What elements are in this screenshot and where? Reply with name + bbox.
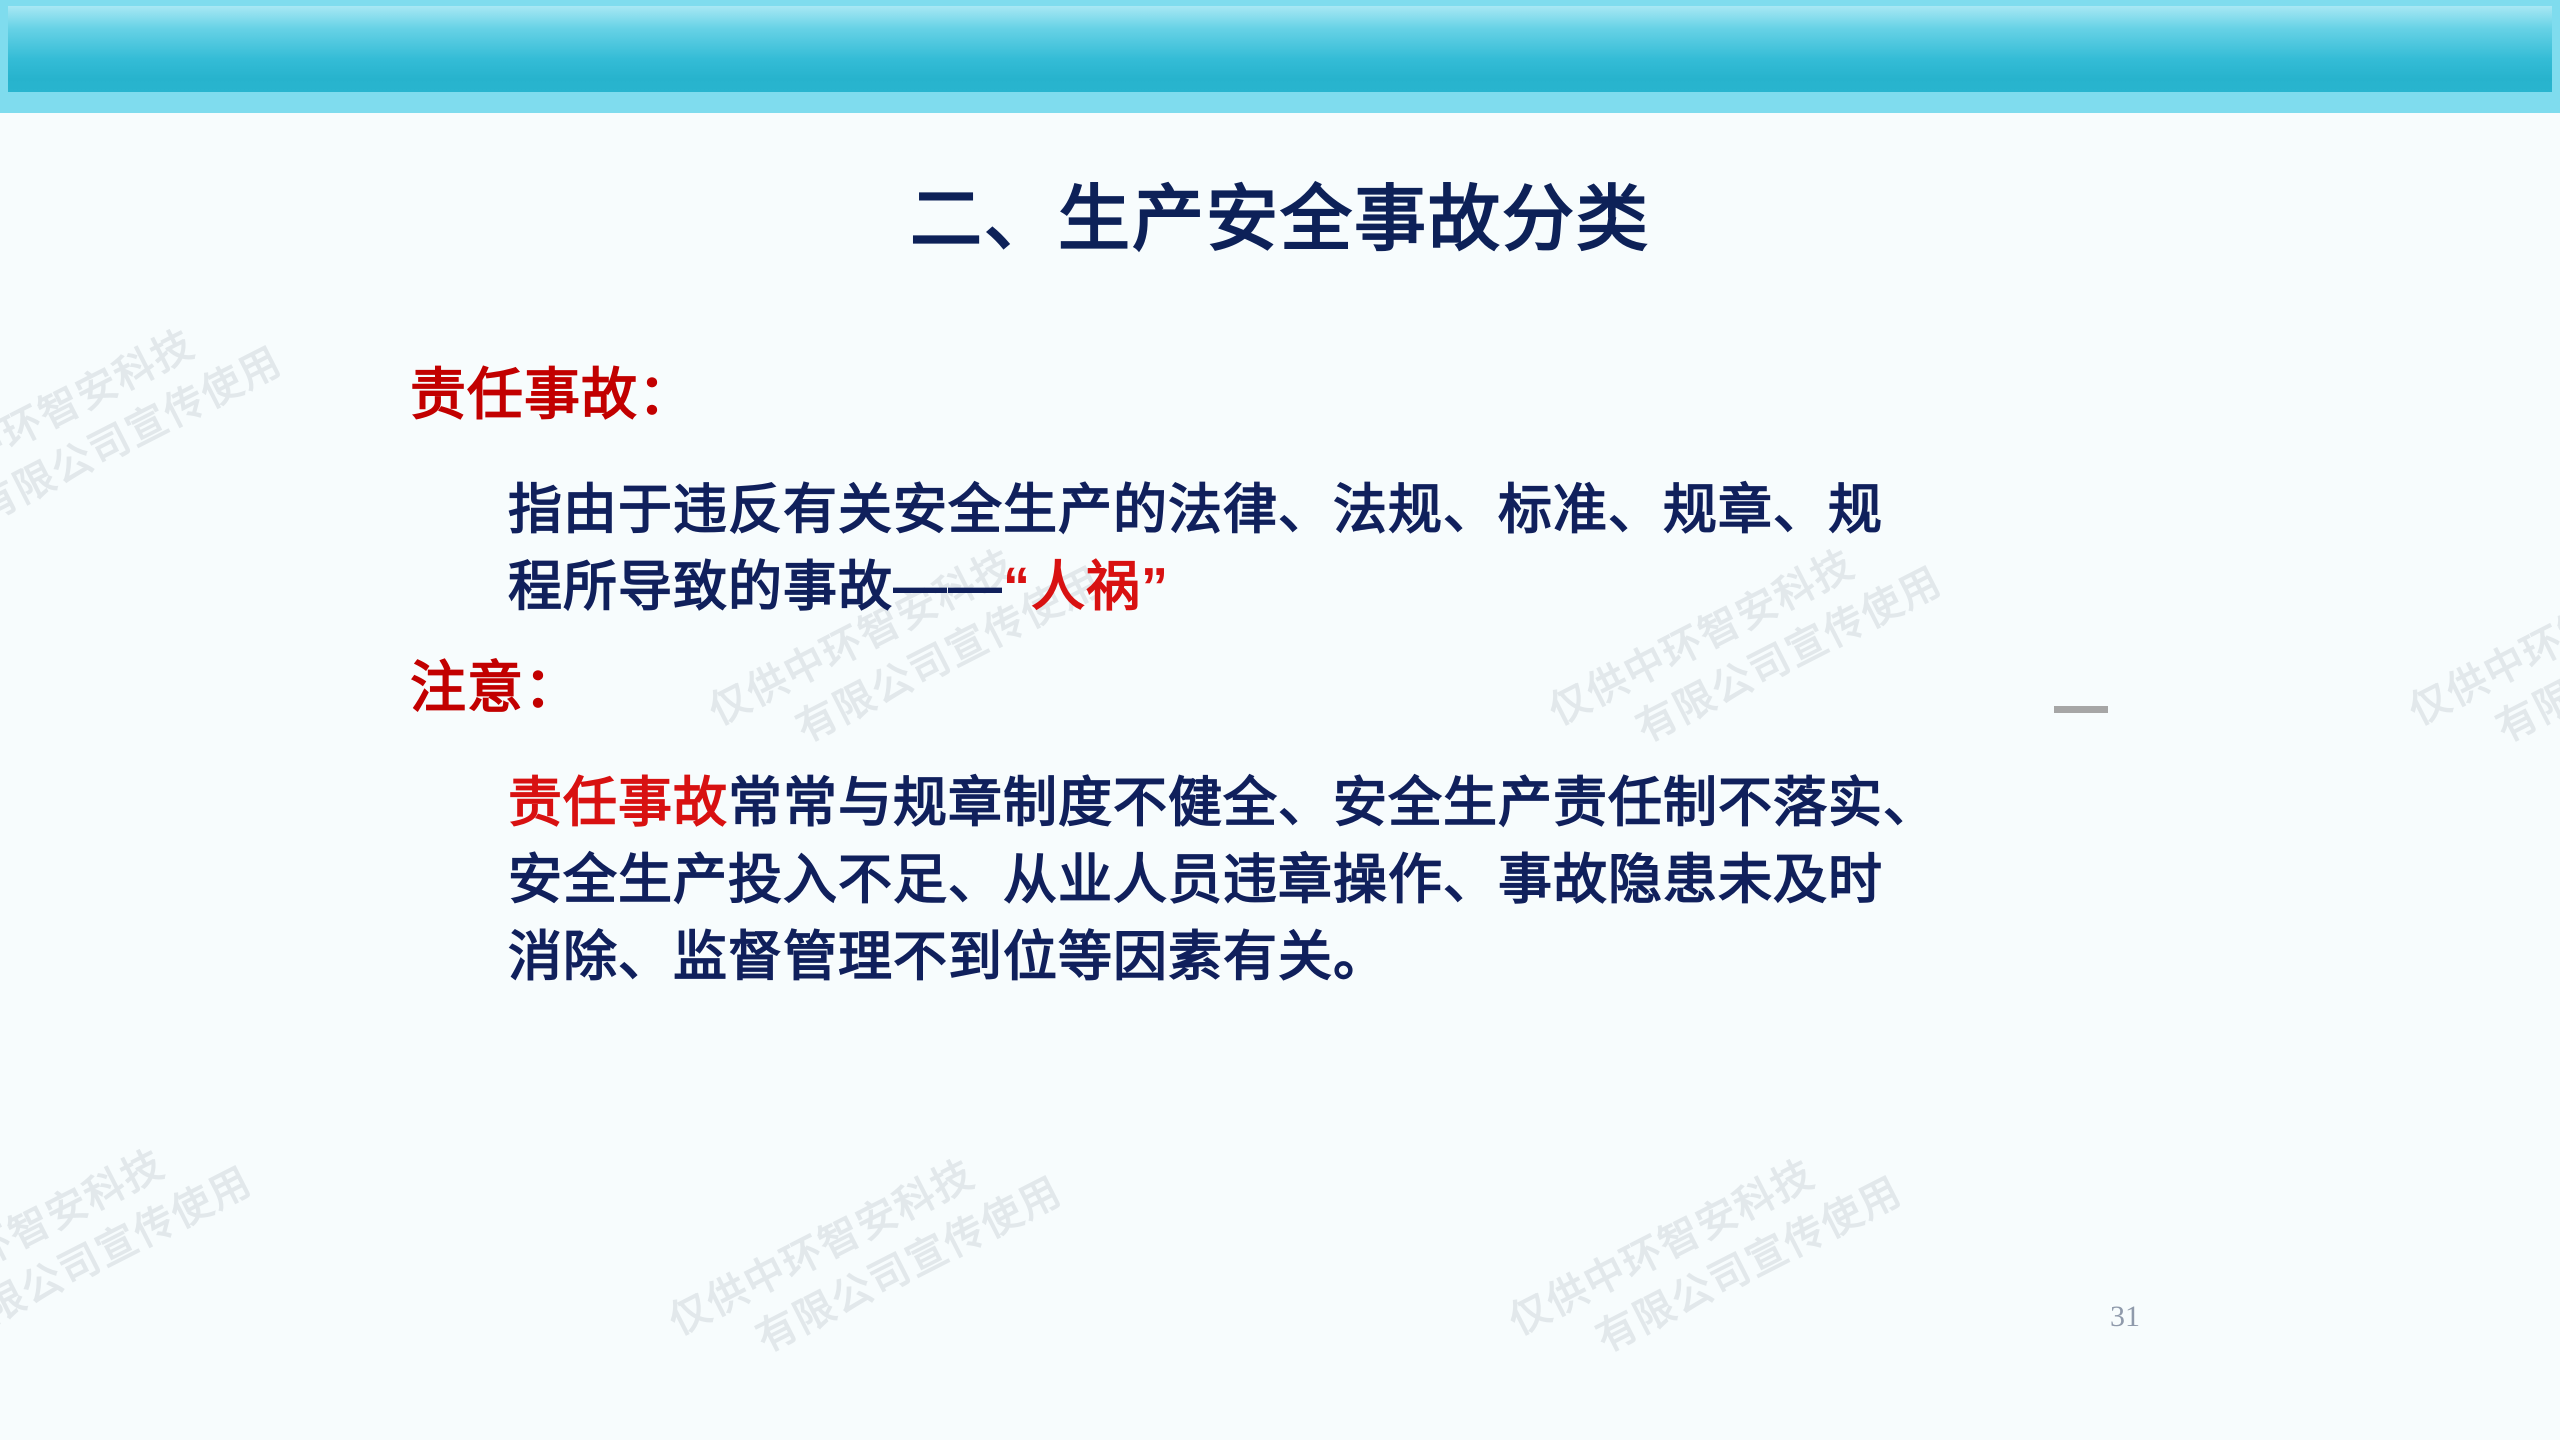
watermark-tile: 仅供中环智安科技 有限公司宣传使用	[0, 286, 292, 569]
slide-canvas: 仅供中环智安科技 有限公司宣传使用 仅供中环智安科技 有限公司宣传使用 仅供中环…	[0, 0, 2560, 1440]
text-run-highlight: 责任事故	[508, 773, 728, 833]
paragraph-definition: 指由于违反有关安全生产的法律、法规、标准、规章、规 程所导致的事故——“人祸”	[508, 472, 2190, 625]
watermark-tile: 仅供中环智安科技 有限公司宣传使用	[0, 1106, 262, 1389]
paragraph-line: 程所导致的事故——“人祸”	[508, 549, 2190, 626]
page-number: 31	[2110, 1300, 2140, 1334]
text-run: 程所导致的事故——	[508, 557, 1003, 617]
slide-body: 责任事故： 指由于违反有关安全生产的法律、法规、标准、规章、规 程所导致的事故—…	[410, 360, 2190, 995]
text-run-highlight: “人祸”	[1003, 557, 1169, 617]
watermark-line-1: 仅供中环智安科技	[2400, 506, 2560, 739]
section-lead-note: 注意：	[410, 653, 2190, 723]
text-run: 消除、监督管理不到位等因素有关。	[508, 927, 1388, 987]
paragraph-note: 责任事故常常与规章制度不健全、安全生产责任制不落实、 安全生产投入不足、从业人员…	[508, 765, 2190, 995]
section-lead-responsibility-accident: 责任事故：	[410, 360, 2190, 430]
text-run: 常常与规章制度不健全、安全生产责任制不落实、	[728, 773, 1938, 833]
dash-decoration	[2054, 706, 2108, 713]
watermark-line-2: 有限公司宣传使用	[0, 335, 292, 537]
watermark-line-1: 仅供中环智安科技	[0, 1106, 237, 1339]
watermark-line-1: 仅供中环智安科技	[1500, 1116, 1887, 1349]
text-run: 安全生产投入不足、从业人员违章操作、事故隐患未及时	[508, 850, 1883, 910]
watermark-tile: 仅供中环智安科技 有限公司宣传使用	[1500, 1116, 1912, 1399]
paragraph-line: 责任事故常常与规章制度不健全、安全生产责任制不落实、	[508, 765, 2190, 842]
watermark-tile: 仅供中环智安科技 有限公司宣传使用	[660, 1116, 1072, 1399]
slide-header-gradient	[8, 6, 2552, 92]
watermark-line-2: 有限公司宣传使用	[2487, 555, 2560, 757]
watermark-tile: 仅供中环智安科技 有限公司宣传使用	[2400, 506, 2560, 789]
slide-header-band	[0, 0, 2560, 113]
watermark-line-2: 有限公司宣传使用	[747, 1165, 1071, 1367]
watermark-line-2: 有限公司宣传使用	[0, 1155, 262, 1357]
paragraph-line: 安全生产投入不足、从业人员违章操作、事故隐患未及时	[508, 842, 2190, 919]
paragraph-line: 指由于违反有关安全生产的法律、法规、标准、规章、规	[508, 472, 2190, 549]
slide-title: 二、生产安全事故分类	[0, 160, 2560, 265]
watermark-line-1: 仅供中环智安科技	[0, 286, 267, 519]
watermark-line-1: 仅供中环智安科技	[660, 1116, 1047, 1349]
paragraph-line: 消除、监督管理不到位等因素有关。	[508, 919, 2190, 996]
text-run: 指由于违反有关安全生产的法律、法规、标准、规章、规	[508, 480, 1883, 540]
watermark-line-2: 有限公司宣传使用	[1587, 1165, 1911, 1367]
